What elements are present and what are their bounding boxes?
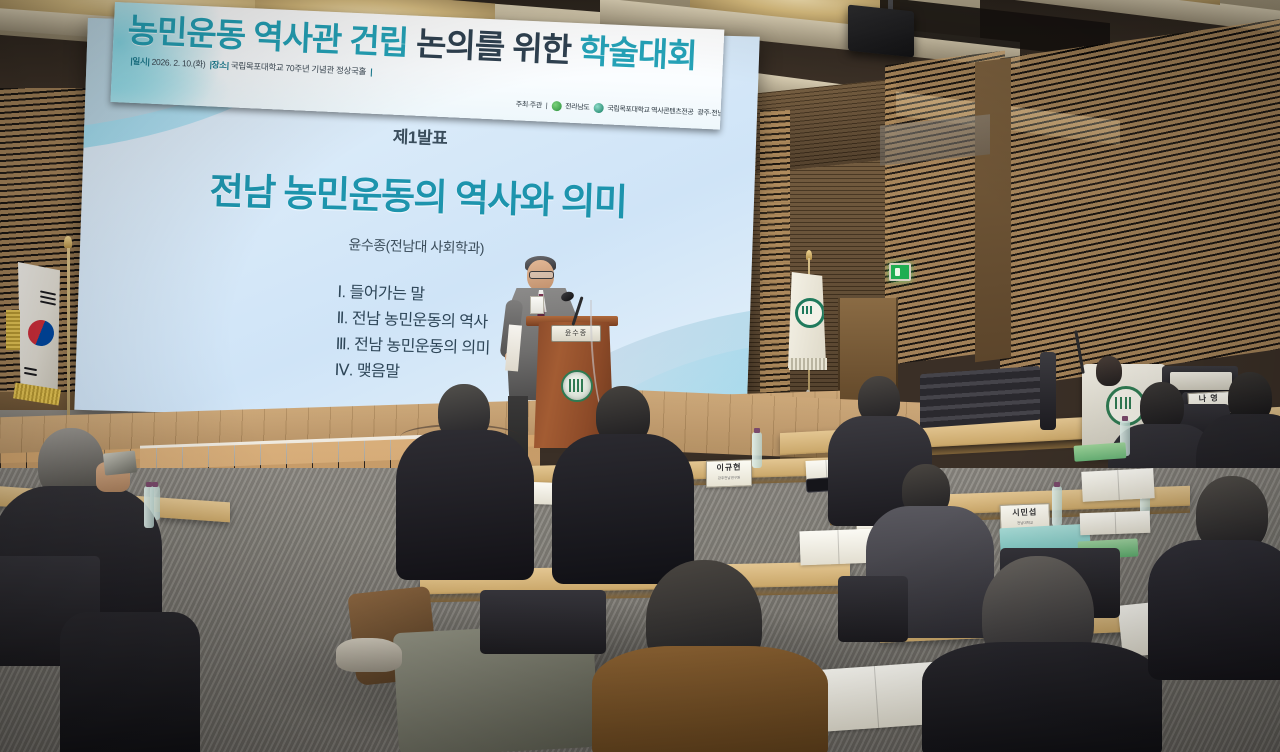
namecard-3-sub: 전남대학교 bbox=[1017, 521, 1033, 526]
photographer-phone[interactable] bbox=[103, 450, 137, 475]
booklet-3 bbox=[1081, 468, 1154, 502]
namecard-3-name: 시민섭 bbox=[1001, 508, 1049, 518]
namecard-1: 이규현 광주전남연구원 bbox=[706, 459, 752, 488]
presenter-glasses bbox=[529, 271, 554, 279]
attendee-body-front-right bbox=[922, 642, 1162, 752]
university-emblem-icon bbox=[795, 298, 825, 328]
av-rack-panel bbox=[1170, 372, 1232, 390]
presenter-badge bbox=[530, 296, 544, 314]
namecard-5-name: 나 영 bbox=[1189, 394, 1229, 404]
banner-host-label: 주최·주관 bbox=[516, 99, 543, 110]
jeollanamdo-logo-icon bbox=[551, 101, 561, 111]
attendee-body-front-center bbox=[592, 646, 828, 752]
shoes bbox=[336, 638, 402, 672]
slide-table-of-contents: Ⅰ. 들어가는 말 Ⅱ. 전남 농민운동의 역사 Ⅲ. 전남 농민운동의 의미 … bbox=[334, 280, 492, 388]
banner-place-label: 장소 bbox=[211, 59, 226, 70]
banner-host-2: 국립목포대학교 역사콘텐츠전공 bbox=[607, 103, 693, 117]
banner-title-part2: 논의를 위한 bbox=[407, 24, 580, 69]
attendee-body-m2 bbox=[552, 434, 694, 584]
emergency-exit-icon bbox=[889, 263, 911, 281]
university-flag-fringe bbox=[789, 358, 827, 370]
chair-front-right[interactable] bbox=[838, 576, 908, 642]
wall-slat-center bbox=[760, 110, 790, 410]
banner-date-label: 일시 bbox=[132, 56, 147, 67]
korean-national-flag bbox=[18, 262, 60, 402]
wall-right-column bbox=[975, 58, 1011, 362]
banner-title-part3: 학술대회 bbox=[578, 32, 697, 74]
attendee-head-r0 bbox=[1096, 356, 1122, 386]
conference-photo-scene: 제1발표 전남 농민운동의 역사와 의미 윤수종(전남대 사회학과) Ⅰ. 들어… bbox=[0, 0, 1280, 752]
namecard-1-sub: 광주전남연구원 bbox=[718, 476, 741, 481]
banner-date-value: 2026. 2. 10.(화) bbox=[151, 57, 205, 69]
podium-nameplate-text: 윤수종 bbox=[565, 330, 587, 337]
banner-host-1: 전라남도 bbox=[565, 102, 590, 113]
banner-host-row: 주최·주관 | 전라남도 국립목포대학교 역사콘텐츠전공 광주·전남농민운동역사… bbox=[516, 99, 725, 122]
booklet-2 bbox=[799, 529, 876, 566]
flag-fringe-side bbox=[6, 310, 20, 350]
attendee-body-m1 bbox=[396, 430, 534, 580]
toc-item-3: Ⅲ. 전남 농민운동의 의미 bbox=[335, 332, 490, 362]
mokpo-university-logo-icon bbox=[593, 103, 603, 113]
booklet-5 bbox=[814, 662, 938, 732]
booklet-7 bbox=[1080, 511, 1151, 535]
podium-crest-icon bbox=[561, 370, 593, 402]
toc-item-2: Ⅱ. 전남 농민운동의 역사 bbox=[336, 306, 491, 336]
attendee-body-far-right bbox=[1148, 540, 1280, 680]
university-flag bbox=[788, 272, 826, 368]
taeguk-symbol bbox=[23, 315, 58, 350]
stacked-chairs bbox=[920, 366, 1040, 428]
attendee-legs-photographer bbox=[60, 612, 200, 752]
slide-author: 윤수종(전남대 사회학과) bbox=[80, 227, 752, 266]
namecard-1-name: 이규현 bbox=[707, 463, 751, 473]
chair-front-center[interactable] bbox=[480, 590, 606, 654]
ceiling-speaker bbox=[848, 5, 914, 58]
wall-slat-right-b bbox=[1000, 18, 1280, 389]
equipment-trolley bbox=[1040, 352, 1056, 430]
water-bottle-2 bbox=[1052, 486, 1062, 526]
slide-title: 전남 농민운동의 역사와 의미 bbox=[81, 157, 755, 230]
water-bottle-photographer bbox=[144, 486, 154, 528]
water-bottle-1 bbox=[752, 432, 762, 468]
